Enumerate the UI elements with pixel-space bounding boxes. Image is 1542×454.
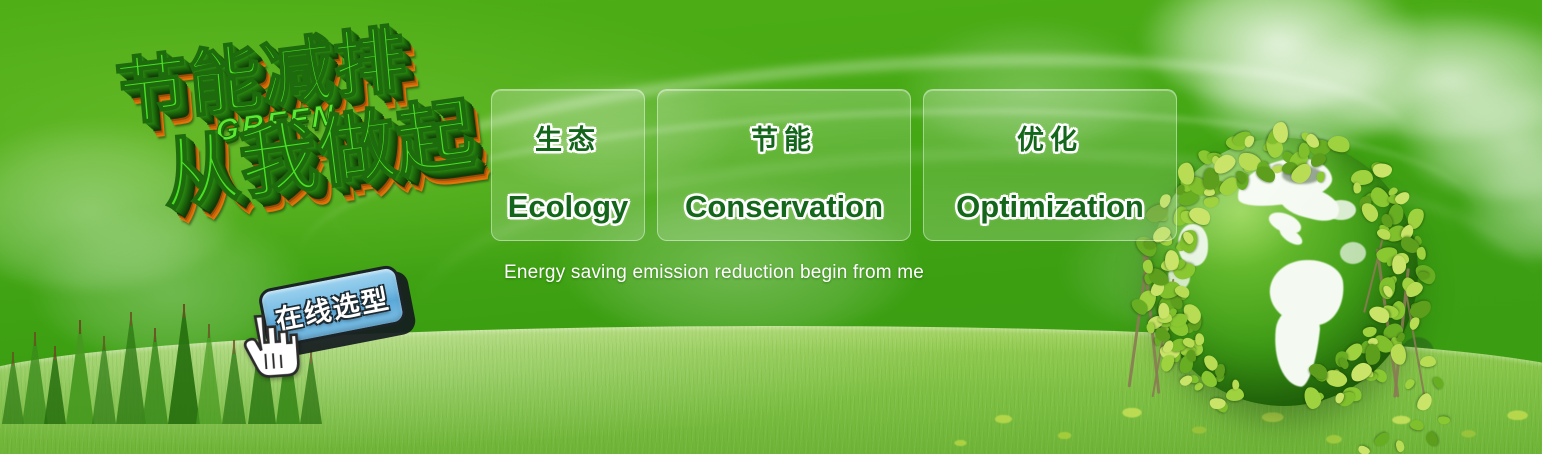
leaf-icon	[1420, 356, 1436, 367]
conifer-tree-icon	[66, 320, 94, 424]
cloud-icon	[1140, 0, 1420, 110]
leaf-icon	[1424, 430, 1439, 448]
leaf-icon	[1129, 295, 1151, 317]
feature-cards: 生态 Ecology 节能 Conservation 优化 Optimizati…	[491, 89, 1177, 241]
eco-promo-banner: 节能减排 GREEN 从我做起 在线选型 生态 Ecology 节能 Conse…	[0, 0, 1542, 454]
conifer-tree-icon	[196, 324, 222, 424]
feature-card-cn-label: 优化	[1017, 118, 1083, 157]
cloud-icon	[1460, 150, 1542, 260]
conifer-tree-icon	[142, 328, 168, 424]
cloud-icon	[1300, 10, 1542, 140]
leaf-icon	[1409, 418, 1425, 432]
globe-sphere	[1150, 138, 1418, 406]
leaf-icon	[1212, 396, 1230, 414]
leaf-icon	[1193, 381, 1204, 391]
feature-card-en-label: Ecology	[508, 189, 629, 225]
leaf-icon	[1209, 397, 1226, 410]
feature-card-cn-label: 节能	[751, 118, 817, 157]
leaf-icon	[1415, 391, 1436, 413]
conifer-tree-icon	[2, 352, 24, 424]
leaf-icon	[1179, 374, 1194, 387]
pointing-hand-cursor-icon	[231, 310, 302, 390]
leaf-icon	[1416, 247, 1426, 260]
leaf-icon	[1403, 377, 1416, 390]
feature-card-optimization[interactable]: 优化 Optimization	[923, 89, 1177, 241]
leaf-icon	[1408, 316, 1422, 331]
leaf-icon	[1146, 322, 1154, 333]
feature-card-ecology[interactable]: 生态 Ecology	[491, 89, 645, 241]
feature-card-cn-label: 生态	[535, 118, 601, 157]
leaf-icon	[1417, 271, 1429, 280]
feature-card-en-label: Conservation	[685, 189, 883, 225]
feature-card-en-label: Optimization	[956, 189, 1144, 225]
continent-shape	[1270, 306, 1322, 388]
conifer-tree-icon	[92, 336, 116, 424]
leaf-icon	[1431, 375, 1445, 391]
leaf-icon	[1158, 352, 1177, 373]
vine-stem	[1128, 239, 1152, 388]
tagline-text: Energy saving emission reduction begin f…	[504, 262, 924, 284]
conifer-tree-icon	[44, 346, 66, 424]
leaf-icon	[1372, 430, 1392, 448]
headline-3d: 节能减排 GREEN 从我做起	[92, 29, 500, 273]
leaf-icon	[1153, 336, 1161, 346]
feature-card-conservation[interactable]: 节能 Conservation	[657, 89, 911, 241]
conifer-tree-icon	[300, 350, 322, 424]
